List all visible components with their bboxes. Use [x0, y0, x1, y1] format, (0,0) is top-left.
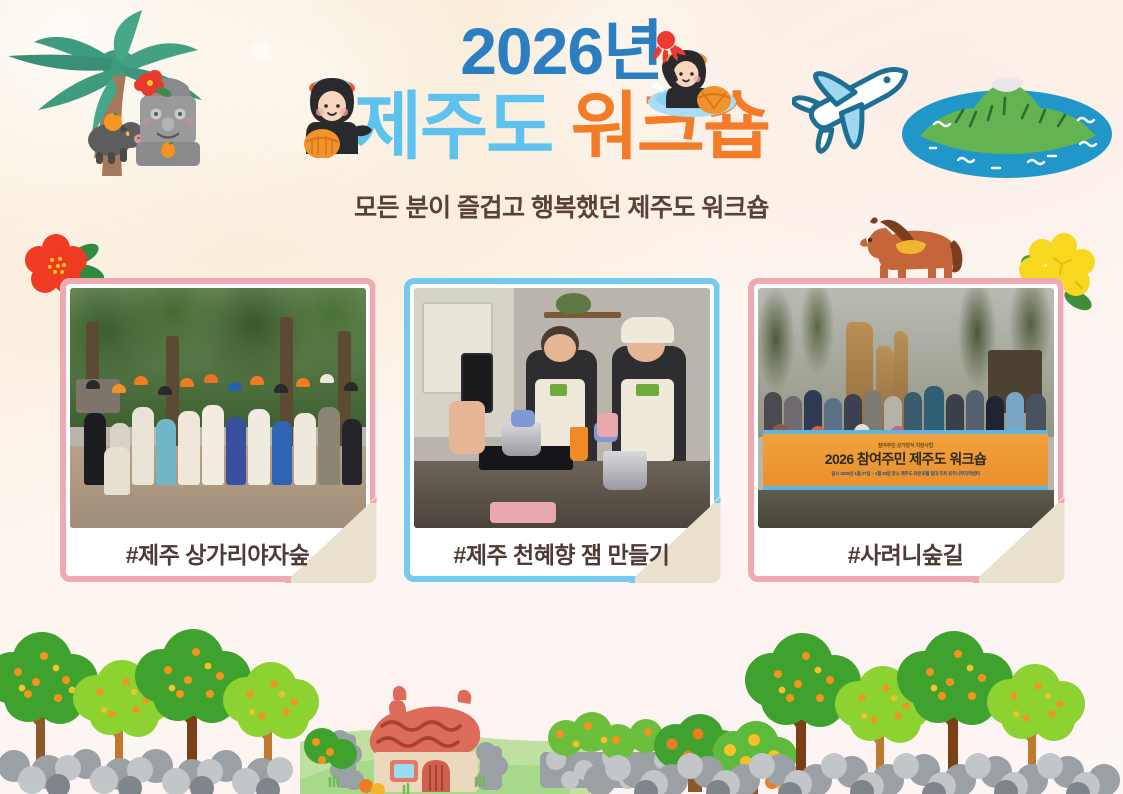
card-caption: #사려니숲길: [758, 528, 1054, 582]
jeju-traditional-house-icon: [300, 686, 570, 794]
bottom-scenery: [0, 594, 1123, 794]
title-event: 워크숍: [571, 85, 769, 168]
photo-card-jam-making[interactable]: #제주 천혜향 잼 만들기: [404, 278, 720, 582]
photo-jam-making: [414, 288, 710, 528]
poster-canvas: 2026년 제주도 워크숍 모든 분이 즐겁고 행복했던 제주도 워크숍: [0, 0, 1123, 794]
card-caption: #제주 천혜향 잼 만들기: [414, 528, 710, 582]
poster-subtitle: 모든 분이 즐겁고 행복했던 제주도 워크숍: [0, 188, 1123, 224]
photo-jaja-forest: [70, 288, 366, 528]
banner-small-text: 참여주민 상가장식 지원사업: [878, 442, 933, 449]
poster-header: 2026년 제주도 워크숍 모든 분이 즐겁고 행복했던 제주도 워크숍: [0, 18, 1123, 224]
photo-banner: 참여주민 상가장식 지원사업 2026 참여주민 제주도 워크숍 일시 2026…: [763, 430, 1047, 490]
card-caption: #제주 상가리야자숲: [70, 528, 366, 582]
title-line-1: 2026년: [0, 18, 1123, 84]
photo-card-jaja-forest[interactable]: #제주 상가리야자숲: [60, 278, 376, 582]
title-place: 제주도: [354, 85, 552, 168]
banner-footer-text: 일시 2026년 1월 27일 ~ 1월 28일 장소 제주도 라온호텔 일대 …: [831, 471, 979, 477]
photo-card-saryeoni[interactable]: 참여주민 상가장식 지원사업 2026 참여주민 제주도 워크숍 일시 2026…: [748, 278, 1064, 582]
photo-saryeoni-forest: 참여주민 상가장식 지원사업 2026 참여주민 제주도 워크숍 일시 2026…: [758, 288, 1054, 528]
photo-card-row: #제주 상가리야자숲: [0, 278, 1123, 582]
title-line-2: 제주도 워크숍: [0, 90, 1123, 164]
banner-main-text: 2026 참여주민 제주도 워크숍: [825, 449, 986, 469]
jeju-pony-icon: [856, 214, 966, 286]
crowd-group: [70, 374, 366, 484]
title-year: 2026년: [460, 14, 663, 88]
